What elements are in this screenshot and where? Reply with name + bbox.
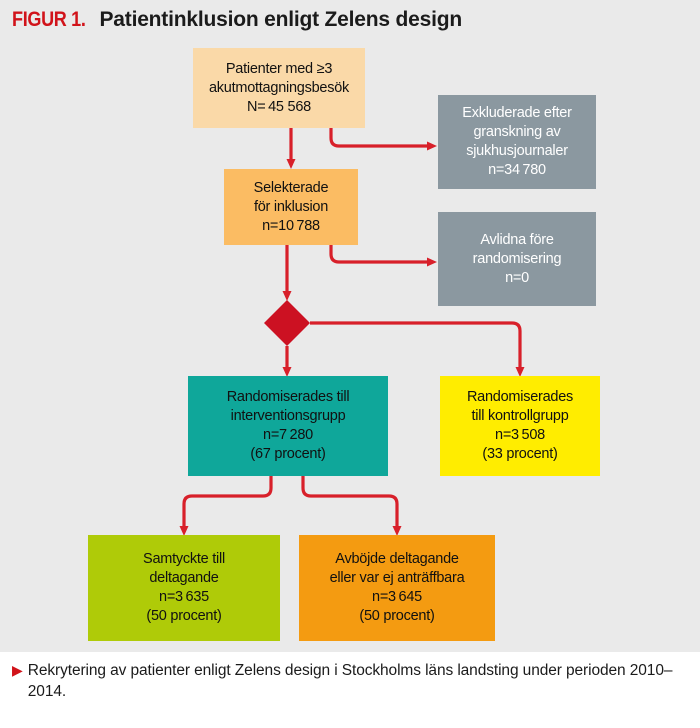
intervention-line-3: n=7 280 xyxy=(263,426,313,445)
excluded-line-1: Exkluderade efter xyxy=(462,104,571,123)
consented-line-2: deltagande xyxy=(149,569,218,588)
deceased-line-2: randomisering xyxy=(473,250,562,269)
consented-line-1: Samtyckte till xyxy=(143,550,225,569)
selected-line-3: n=10 788 xyxy=(262,217,320,236)
control-line-4: (33 procent) xyxy=(482,445,557,464)
declined-line-2: eller var ej anträffbara xyxy=(330,569,465,588)
control-line-2: till kontrollgrupp xyxy=(471,407,568,426)
connector-diamond-to-control xyxy=(310,323,520,368)
connector-intervention-to-consented xyxy=(184,476,271,527)
excluded-box: Exkluderade efter granskning av sjukhusj… xyxy=(438,95,596,189)
excluded-line-4: n=34 780 xyxy=(488,161,546,180)
excluded-line-2: granskning av xyxy=(473,123,560,142)
figure-title: Patientinklusion enligt Zelens design xyxy=(99,8,462,32)
deceased-line-1: Avlidna före xyxy=(480,231,553,250)
selected-line-2: för inklusion xyxy=(254,198,328,217)
figure-page: FIGUR 1. Patientinklusion enligt Zelens … xyxy=(0,0,700,728)
excluded-line-3: sjukhusjournaler xyxy=(466,142,568,161)
control-line-1: Randomiserades xyxy=(467,388,573,407)
consented-line-3: n=3 635 xyxy=(159,588,209,607)
declined-box: Avböjde deltagande eller var ej anträffb… xyxy=(299,535,495,641)
randomisation-diamond-shape xyxy=(264,300,310,346)
patients-line-2: akutmottagningsbesök xyxy=(209,79,349,98)
caption-triangle-icon: ▶ xyxy=(12,660,23,681)
control-line-3: n=3 508 xyxy=(495,426,545,445)
consented-box: Samtyckte till deltagande n=3 635 (50 pr… xyxy=(88,535,280,641)
declined-line-3: n=3 645 xyxy=(372,588,422,607)
consented-line-4: (50 procent) xyxy=(146,607,221,626)
intervention-line-2: interventionsgrupp xyxy=(231,407,346,426)
patients-line-3: N= 45 568 xyxy=(247,98,311,117)
connector-selected-to-deceased xyxy=(331,245,428,262)
selected-line-1: Selekterade xyxy=(254,179,329,198)
intervention-line-1: Randomiserades till xyxy=(227,388,350,407)
patients-box: Patienter med ≥3 akutmottagningsbesök N=… xyxy=(193,48,365,128)
intervention-group-box: Randomiserades till interventionsgrupp n… xyxy=(188,376,388,476)
deceased-box: Avlidna före randomisering n=0 xyxy=(438,212,596,306)
patients-line-1: Patienter med ≥3 xyxy=(226,60,332,79)
figure-caption: ▶ Rekrytering av patienter enligt Zelens… xyxy=(0,652,700,728)
flowchart-canvas: Patienter med ≥3 akutmottagningsbesök N=… xyxy=(0,40,700,652)
intervention-line-4: (67 procent) xyxy=(250,445,325,464)
selected-box: Selekterade för inklusion n=10 788 xyxy=(224,169,358,245)
control-group-box: Randomiserades till kontrollgrupp n=3 50… xyxy=(440,376,600,476)
connector-source-to-excluded xyxy=(331,128,428,146)
deceased-line-3: n=0 xyxy=(505,269,529,288)
declined-line-1: Avböjde deltagande xyxy=(335,550,458,569)
figure-header: FIGUR 1. Patientinklusion enligt Zelens … xyxy=(0,0,700,40)
caption-text: Rekrytering av patienter enligt Zelens d… xyxy=(28,660,686,702)
connector-intervention-to-declined xyxy=(303,476,397,527)
declined-line-4: (50 procent) xyxy=(359,607,434,626)
figure-number-label: FIGUR 1. xyxy=(12,8,86,32)
